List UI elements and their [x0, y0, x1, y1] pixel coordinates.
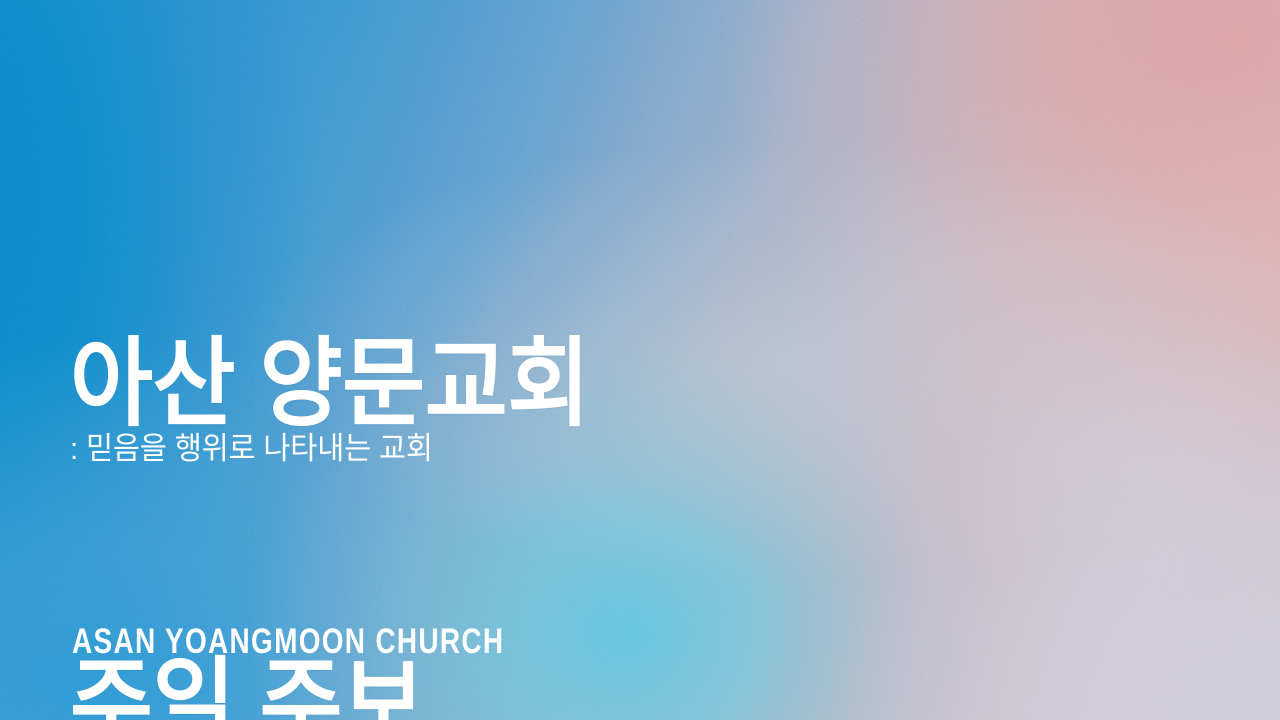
- subtitle-tagline: : 믿음을 행위로 나타내는 교회: [70, 423, 433, 468]
- church-wordmark: ASAN YOANGMOON CHURCH: [72, 622, 504, 662]
- slide-content: 아산 양문교회 주일 주보 : 믿음을 행위로 나타내는 교회 ASAN YOA…: [0, 0, 1280, 720]
- bulletin-cover-slide: 아산 양문교회 주일 주보 : 믿음을 행위로 나타내는 교회 ASAN YOA…: [0, 0, 1280, 720]
